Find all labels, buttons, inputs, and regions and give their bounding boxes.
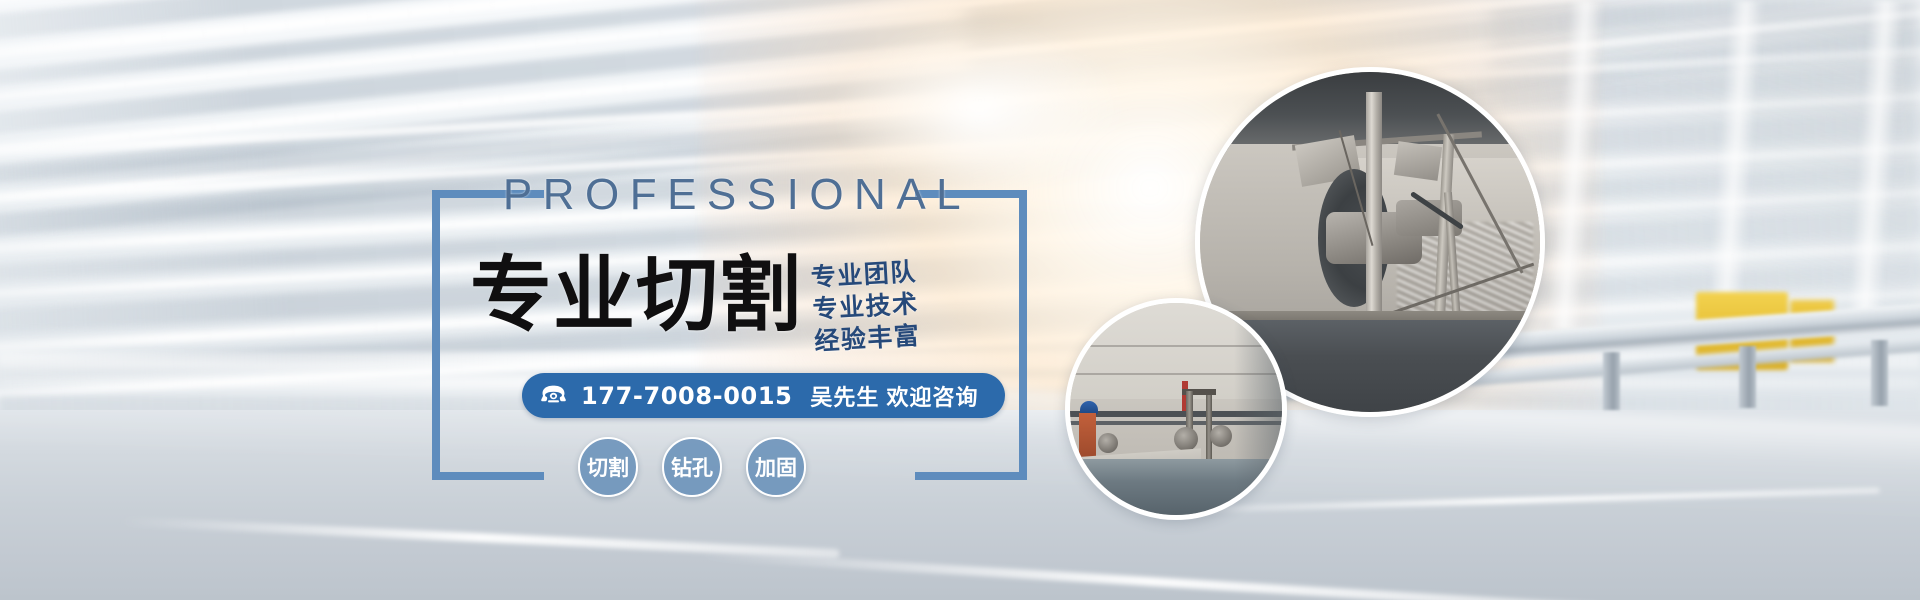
service-tag-reinforcement[interactable]: 加固 <box>746 437 806 497</box>
service-tag-list: 切割 钻孔 加固 <box>578 437 806 497</box>
metal-chute <box>1394 141 1442 181</box>
slogan-item: 经验丰富 <box>814 320 922 358</box>
page-title: 专业切割 <box>470 253 802 339</box>
phone-contact-label: 吴先生 欢迎咨询 <box>810 380 978 412</box>
worker-body <box>1079 413 1096 459</box>
photo-right-shadow <box>1234 303 1282 515</box>
wire-saw-pulley <box>1098 433 1118 453</box>
contact-phone-bar[interactable]: 177-7008-0015 吴先生 欢迎咨询 <box>522 373 1005 418</box>
worker-wire-saw-photo <box>1065 298 1287 520</box>
wire-saw-pulley <box>1174 427 1198 451</box>
service-tag-drilling[interactable]: 钻孔 <box>662 437 722 497</box>
eyebrow-text: PROFESSIONAL <box>497 173 977 217</box>
telephone-icon <box>540 382 567 409</box>
photo-inner <box>1070 303 1282 515</box>
service-tag-cutting[interactable]: 切割 <box>578 437 638 497</box>
promo-banner: PROFESSIONAL 专业切割 专业团队 专业技术 经验丰富 177-700… <box>0 0 1920 600</box>
phone-number: 177-7008-0015 <box>581 382 792 410</box>
banner-content: PROFESSIONAL 专业切割 专业团队 专业技术 经验丰富 177-700… <box>0 0 1920 600</box>
slogan-list: 专业团队 专业技术 经验丰富 <box>810 256 921 358</box>
wire-saw-pulley <box>1210 425 1232 447</box>
